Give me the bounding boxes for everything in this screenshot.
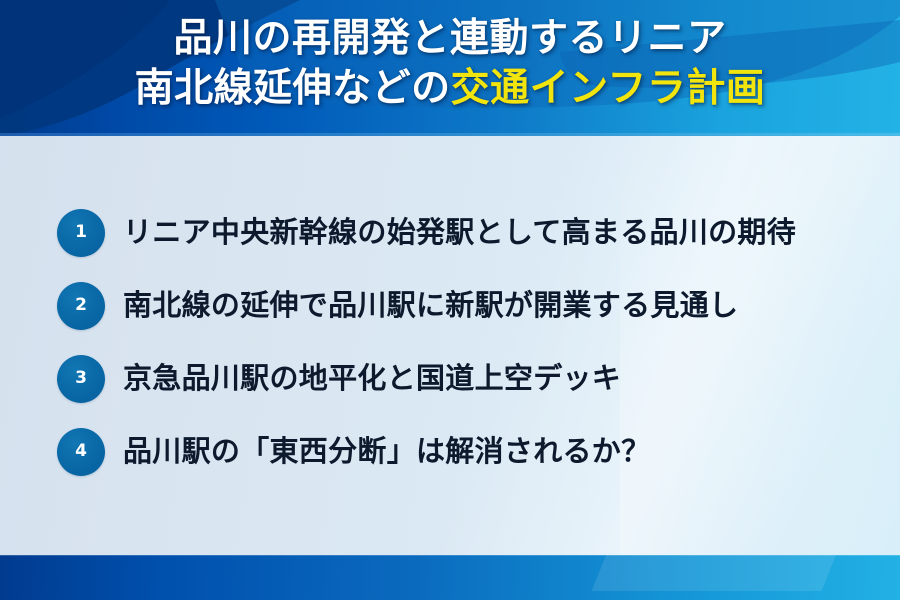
- list-item-number-badge: 4: [57, 428, 105, 476]
- page-title: 品川の再開発と連動するリニア 南北線延伸などの交通インフラ計画: [0, 14, 900, 114]
- header-bottom-divider: [0, 133, 900, 136]
- list-item-label: リニア中央新幹線の始発駅として高まる品川の期待: [123, 215, 796, 250]
- header-banner: 品川の再開発と連動するリニア 南北線延伸などの交通インフラ計画: [0, 0, 900, 136]
- list-item-label: 京急品川駅の地平化と国道上空デッキ: [123, 361, 621, 396]
- list-item: 3 京急品川駅の地平化と国道上空デッキ: [0, 342, 900, 415]
- page-title-line-2-plain: 南北線延伸などの: [135, 66, 451, 111]
- list-item: 2 南北線の延伸で品川駅に新駅が開業する見通し: [0, 269, 900, 342]
- list-item-number-badge: 1: [57, 209, 105, 257]
- list-item: 1 リニア中央新幹線の始発駅として高まる品川の期待: [0, 196, 900, 269]
- slide-canvas: 品川の再開発と連動するリニア 南北線延伸などの交通インフラ計画 1 リニア中央新…: [0, 0, 900, 600]
- list-item: 4 品川駅の「東西分断」は解消されるか？: [0, 415, 900, 488]
- footer-parallelogram-accent: [592, 555, 839, 591]
- list-item-label: 品川駅の「東西分断」は解消されるか？: [123, 434, 650, 469]
- list-item-number-badge: 2: [57, 282, 105, 330]
- numbered-list: 1 リニア中央新幹線の始発駅として高まる品川の期待 2 南北線の延伸で品川駅に新…: [0, 196, 900, 488]
- page-title-line-1: 品川の再開発と連動するリニア: [0, 14, 900, 64]
- page-title-line-2-highlight: 交通インフラ計画: [451, 66, 766, 111]
- page-title-line-2: 南北線延伸などの交通インフラ計画: [0, 64, 900, 114]
- footer-bar: [0, 555, 900, 600]
- list-item-label: 南北線の延伸で品川駅に新駅が開業する見通し: [123, 288, 738, 323]
- list-item-number-badge: 3: [57, 355, 105, 403]
